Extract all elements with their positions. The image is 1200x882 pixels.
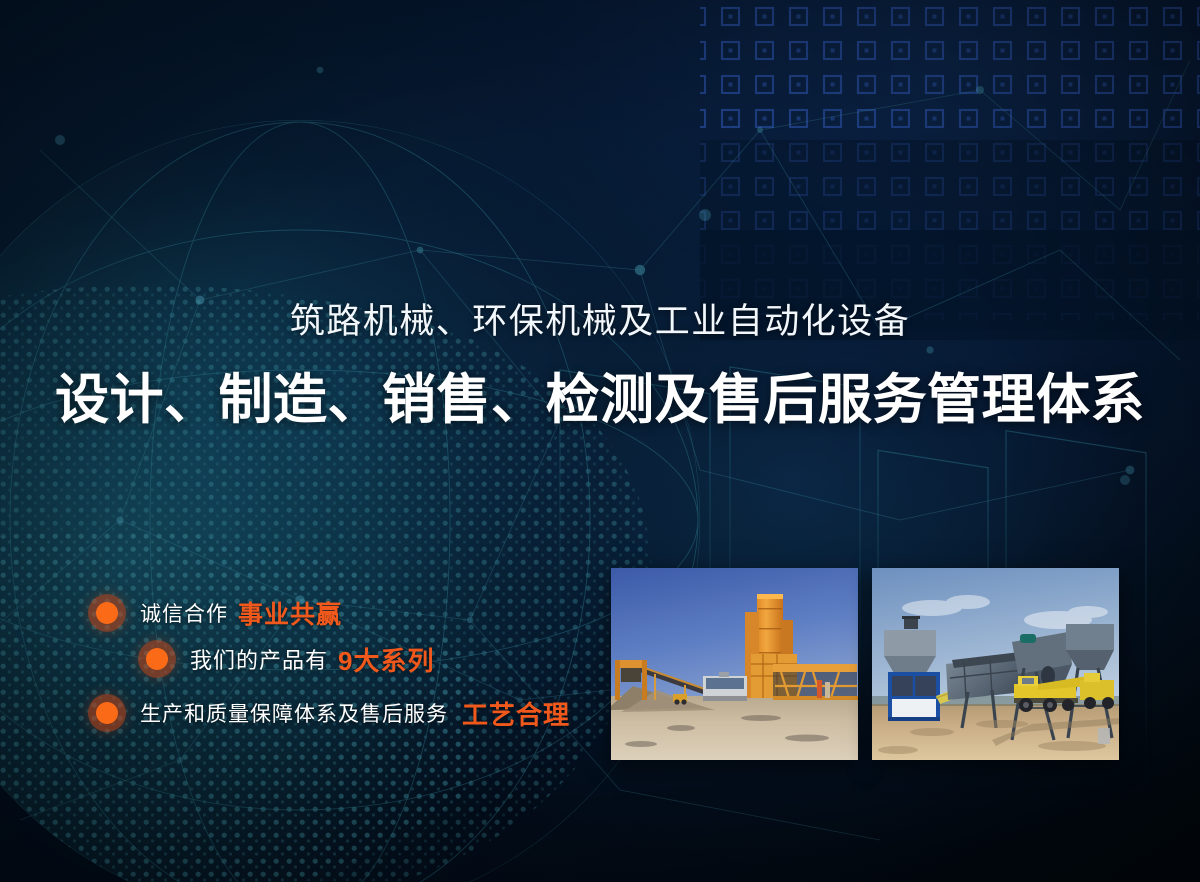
bullet-label: 我们的产品有 bbox=[190, 643, 328, 675]
bullet-label: 生产和质量保障体系及售后服务 bbox=[140, 698, 448, 728]
list-item: 诚信合作 事业共赢 bbox=[88, 594, 342, 632]
photo-gallery bbox=[611, 568, 1121, 760]
bullet-highlight: 工艺合理 bbox=[462, 695, 570, 732]
bullet-dot-icon bbox=[88, 594, 126, 632]
hero-headline: 设计、制造、销售、检测及售后服务管理体系 bbox=[0, 366, 1200, 434]
bullet-dot-icon bbox=[88, 694, 126, 732]
list-item: 生产和质量保障体系及售后服务 工艺合理 bbox=[88, 694, 570, 732]
bullet-dot-icon bbox=[138, 640, 176, 678]
hero-subtitle: 筑路机械、环保机械及工业自动化设备 bbox=[0, 300, 1200, 344]
photo-2-graphic bbox=[872, 568, 1119, 760]
hero-banner: 筑路机械、环保机械及工业自动化设备 设计、制造、销售、检测及售后服务管理体系 诚… bbox=[0, 0, 1200, 882]
list-item: 我们的产品有 9大系列 bbox=[138, 640, 434, 678]
photo-1-graphic bbox=[611, 568, 858, 760]
photo-concrete-batching-plant[interactable] bbox=[611, 568, 858, 760]
bullet-highlight: 事业共赢 bbox=[238, 595, 342, 631]
bullet-highlight: 9大系列 bbox=[338, 641, 434, 678]
photo-mobile-batching-plant[interactable] bbox=[872, 568, 1119, 760]
bullet-label: 诚信合作 bbox=[140, 598, 228, 628]
